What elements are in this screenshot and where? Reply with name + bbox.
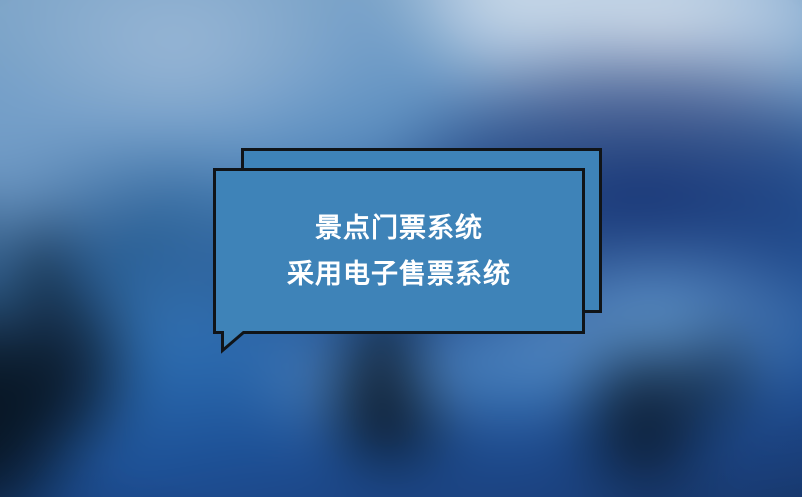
bubble-text-line-2: 采用电子售票系统 (287, 251, 511, 297)
speech-bubble-text-block: 景点门票系统 采用电子售票系统 (213, 168, 585, 334)
bubble-text-line-1: 景点门票系统 (315, 205, 483, 251)
screenshot-canvas: 景点门票系统 采用电子售票系统 (0, 0, 802, 497)
